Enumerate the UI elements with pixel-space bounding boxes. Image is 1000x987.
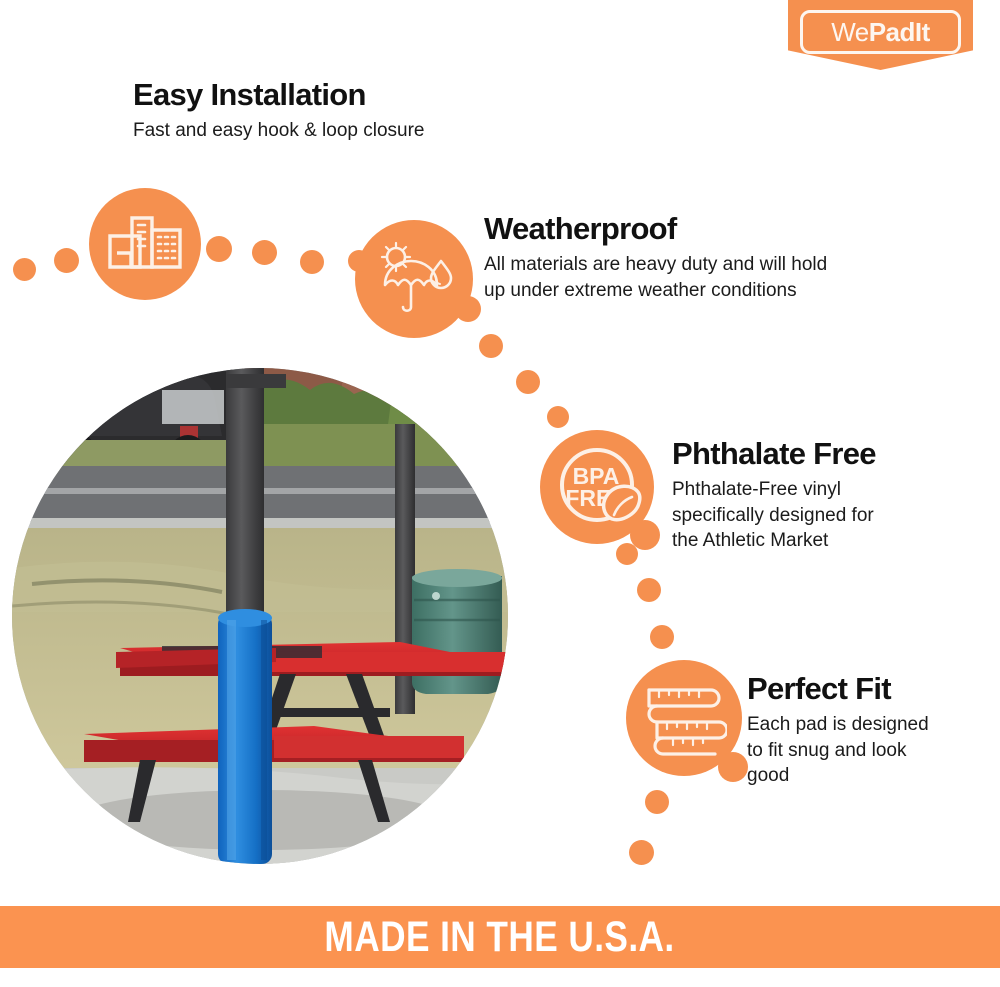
feature-title-easy-installation: Easy Installation [133,78,425,112]
feature-description-phthalate-free-line1: Phthalate-Free vinyl [672,477,876,503]
feature-title-perfect-fit: Perfect Fit [747,672,929,706]
building-icon [89,188,201,300]
trail-dot [54,248,79,273]
feature-block-perfect-fit: Perfect Fit Each pad is designed to fit … [747,672,929,789]
brand-logo: WePadIt [788,0,973,70]
feature-description-easy-installation: Fast and easy hook & loop closure [133,118,425,144]
made-in-usa-text: MADE IN THE U.S.A. [325,916,675,959]
bpa-free-leaf-icon: BPA FREE [540,430,654,544]
umbrella-sun-rain-icon [355,220,473,338]
photo-scene [12,368,508,864]
logo-text-it: It [915,17,930,47]
trail-dot [479,334,503,358]
feature-description-weatherproof-line1: All materials are heavy duty and will ho… [484,252,827,278]
made-in-usa-banner: MADE IN THE U.S.A. [0,906,1000,968]
feature-description-perfect-fit-line3: good [747,763,929,789]
trail-dot [206,236,232,262]
trail-dot [300,250,324,274]
product-photo [12,368,508,864]
trail-dot [516,370,540,394]
trail-dot [13,258,36,281]
feature-description-perfect-fit-line1: Each pad is designed [747,712,929,738]
trail-dot [650,625,674,649]
feature-block-easy-installation: Easy Installation Fast and easy hook & l… [133,78,425,144]
trail-dot [645,790,669,814]
feature-title-phthalate-free: Phthalate Free [672,437,876,471]
logo-text-we: We [831,17,869,47]
measuring-tape-icon [626,660,742,776]
feature-block-weatherproof: Weatherproof All materials are heavy dut… [484,212,827,303]
feature-description-weatherproof-line2: up under extreme weather conditions [484,278,827,304]
trail-dot [252,240,277,265]
logo-border-frame: WePadIt [800,10,961,54]
trail-dot [547,406,569,428]
trail-dot [637,578,661,602]
logo-text-pad: Pad [869,17,915,47]
trail-dot [629,840,654,865]
feature-description-perfect-fit-line2: to fit snug and look [747,738,929,764]
feature-title-weatherproof: Weatherproof [484,212,827,246]
feature-description-phthalate-free-line2: specifically designed for [672,503,876,529]
feature-block-phthalate-free: Phthalate Free Phthalate-Free vinyl spec… [672,437,876,554]
infographic-page: WePadIt Easy Installation Fast and easy … [0,0,1000,987]
logo-wordmark: WePadIt [831,19,930,45]
feature-description-phthalate-free-line3: the Athletic Market [672,528,876,554]
